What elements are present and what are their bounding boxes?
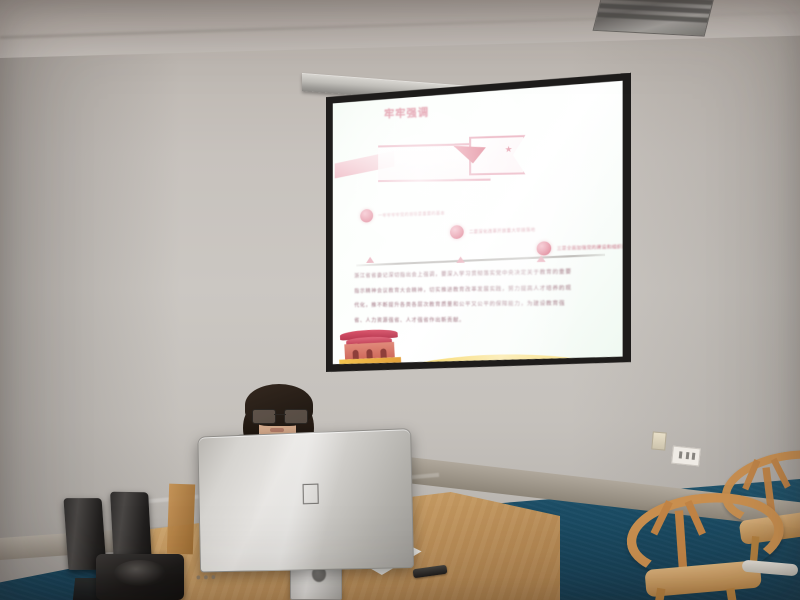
imac-ports (196, 574, 234, 581)
bullet-text-3: 三是全面加强党的建设和组织建设 (557, 243, 623, 252)
imac-desktop[interactable]:  (197, 428, 414, 572)
screen-surface: ★ 牢牢强调 一牢牢牢牢党的领导是重要的基本 二是深化改革开放重大举措落地 (333, 80, 623, 379)
air-vent-icon (593, 0, 716, 37)
subwoofer[interactable] (96, 554, 184, 600)
tiananmen-gate-icon (338, 328, 401, 365)
bullet-marker-1 (360, 209, 373, 223)
body-line-3: 代化，推不断提升各类各层次教育质量和公平又公平的保障能力，为建设教育强 (354, 301, 614, 309)
gate-arch-1 (352, 350, 358, 359)
power-outlet-2[interactable] (671, 446, 701, 467)
star-icon: ★ (505, 145, 513, 154)
wishbone-chair-1[interactable] (627, 475, 774, 600)
slide-bullet-group: 一牢牢牢牢党的领导是重要的基本 二是深化改革开放重大举措落地 三是全面加强党的建… (360, 198, 619, 262)
projection-screen[interactable]: ★ 牢牢强调 一牢牢牢牢党的领导是重要的基本 二是深化改革开放重大举措落地 (326, 73, 631, 388)
lens-right (284, 409, 308, 424)
subwoofer-cone (114, 560, 166, 586)
timeline-marker-1 (366, 257, 374, 263)
wooden-stool (167, 484, 195, 555)
apple-logo-icon:  (298, 481, 324, 511)
lens-left (252, 409, 276, 424)
gate-arch-3 (380, 348, 386, 357)
room-photo-scene: Screen ★ 牢牢强调 一牢牢牢牢党的领导是重要的基本 (0, 0, 800, 600)
glasses-bridge (274, 414, 286, 415)
list-item: 三是全面加强党的建设和组织建设 (537, 239, 623, 256)
body-line-1: 浙江省省委记深切指出会上强调，要深入学习贯彻落实党中央决定关于教育的重要 (354, 269, 614, 279)
timeline-marker-3 (537, 255, 546, 262)
bullet-marker-3 (537, 241, 552, 255)
timeline-marker-2 (456, 256, 464, 262)
presentation-slide: ★ 牢牢强调 一牢牢牢牢党的领导是重要的基本 二是深化改革开放重大举措落地 (333, 80, 623, 379)
list-item: 一牢牢牢牢党的领导是重要的基本 (360, 206, 445, 223)
body-line-2: 指示精神会议教育大会精神，切实推进教育改革发展实践，努力提高人才培养的现 (354, 285, 614, 294)
bullet-text-2: 二是深化改革开放重大举措落地 (469, 226, 535, 235)
slide-title-ribbon: ★ (335, 136, 521, 190)
gate-arch-2 (366, 349, 372, 358)
eyeglasses-icon (252, 409, 308, 422)
slide-title: 牢牢强调 (384, 101, 484, 121)
bullet-marker-2 (450, 225, 464, 239)
light-switch[interactable] (651, 431, 667, 450)
bullet-text-1: 一牢牢牢牢党的领导是重要的基本 (378, 210, 445, 219)
list-item: 二是深化改革开放重大举措落地 (450, 222, 535, 239)
chair-leg (726, 588, 741, 600)
person-mouth (270, 428, 284, 432)
